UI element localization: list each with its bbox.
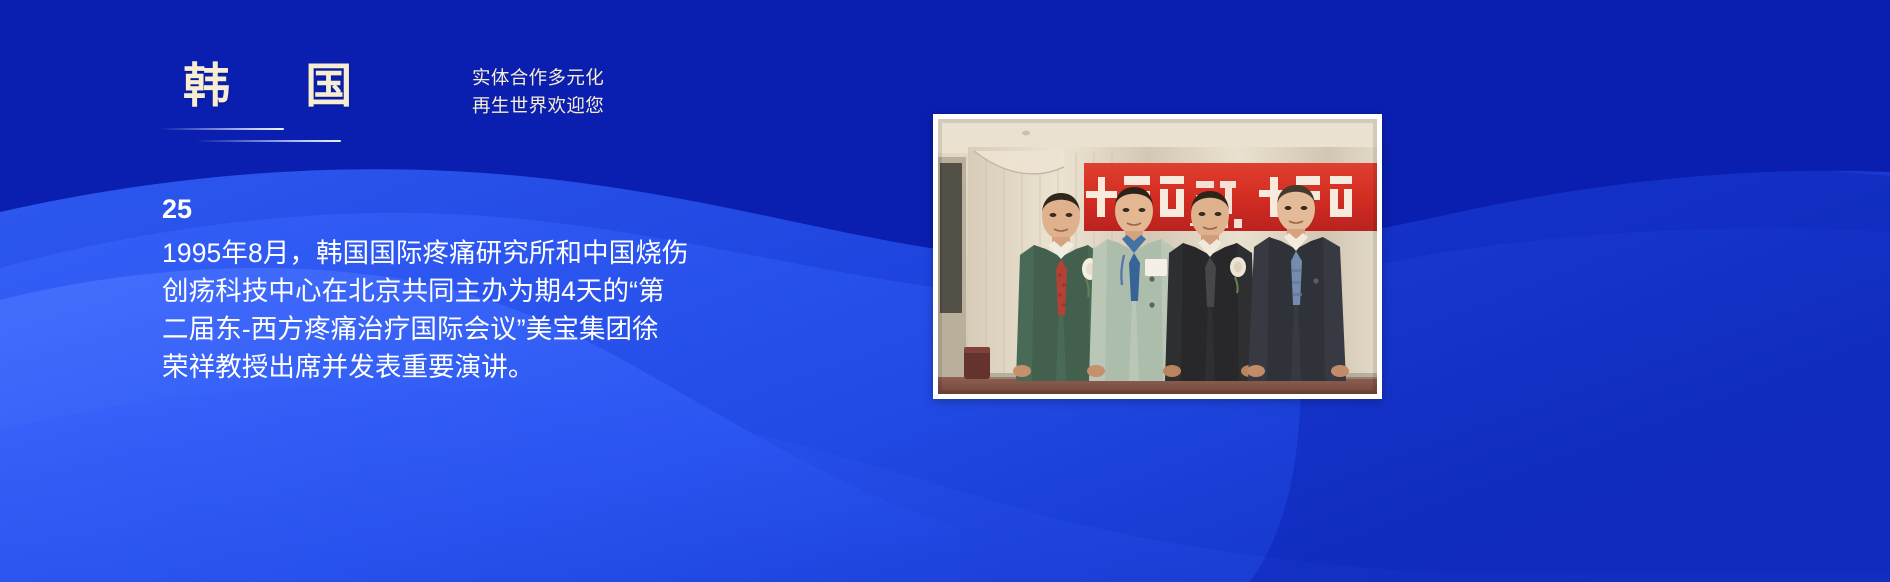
page-title: 韩 国 [183,57,366,114]
paragraph-line-2: 创疡科技中心在北京共同主办为期4天的“第 [162,272,802,310]
title-underline-primary [160,128,284,130]
photo-frame [933,114,1382,399]
paragraph-line-3: 二届东-西方疼痛治疗国际会议”美宝集团徐 [162,310,802,348]
slide-root: 韩 国 实体合作多元化 再生世界欢迎您 25 1995年8月，韩国国际疼痛研究所… [0,0,1890,582]
paragraph-line-1: 1995年8月，韩国国际疼痛研究所和中国烧伤 [162,234,802,272]
item-number: 25 [162,196,802,223]
paragraph-line-4: 荣祥教授出席并发表重要演讲。 [162,348,802,386]
subtitle-line-2: 再生世界欢迎您 [472,92,604,120]
body-paragraph: 1995年8月，韩国国际疼痛研究所和中国烧伤 创疡科技中心在北京共同主办为期4天… [162,234,802,387]
subtitle-line-1: 实体合作多元化 [472,64,604,92]
title-underline-secondary [196,140,341,142]
header-subtitle: 实体合作多元化 再生世界欢迎您 [472,64,604,120]
event-photo [938,119,1377,394]
content-block: 25 1995年8月，韩国国际疼痛研究所和中国烧伤 创疡科技中心在北京共同主办为… [162,196,802,387]
